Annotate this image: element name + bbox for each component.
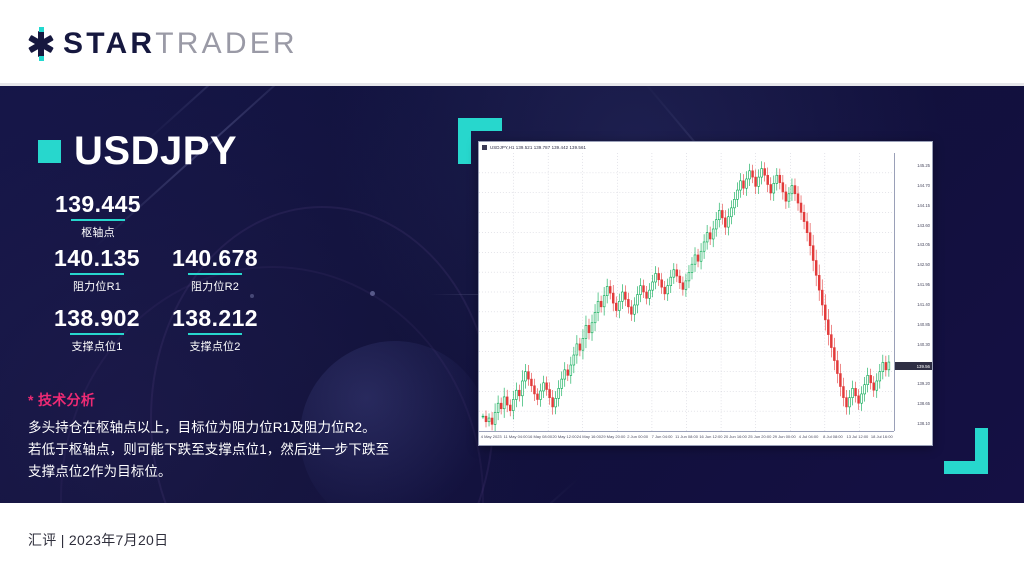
asterisk-star-logo-icon xyxy=(24,27,58,61)
time-axis-tick: 29 May 20:00 xyxy=(601,434,625,439)
price-axis-tick: 141.95 xyxy=(917,282,930,287)
time-axis-tick: 11 May 04:00 xyxy=(504,434,528,439)
price-axis-tick: 145.25 xyxy=(917,163,930,168)
time-axis-tick: 4 May 2023 xyxy=(481,434,502,439)
page-title: USDJPY xyxy=(74,131,237,171)
level-label-s1: 支撑点位1 xyxy=(38,338,156,354)
price-axis-tick: 138.65 xyxy=(917,401,930,406)
corner-bracket-bottom-right xyxy=(944,428,988,474)
time-axis-tick: 16 Jun 12:00 xyxy=(699,434,722,439)
price-axis-tick: 139.20 xyxy=(917,381,930,386)
chart-title-text: USDJPY,H1 139.521 139.787 139.442 139.56… xyxy=(490,145,586,150)
chart-price-axis: 145.25144.70144.15143.60143.05142.50141.… xyxy=(894,153,932,431)
levels-grid: 140.135 阻力位R1 140.678 阻力位R2 138.902 支撑点位… xyxy=(38,246,274,366)
analysis-line-1: 多头持仓在枢轴点以上，目标位为阻力位R1及阻力位R2。 xyxy=(28,417,408,439)
pivot-value: 139.445 xyxy=(52,192,144,216)
level-value-s2: 138.212 xyxy=(156,306,274,330)
time-axis-tick: 18 Jul 16:00 xyxy=(871,434,893,439)
instrument-title-row: USDJPY xyxy=(38,131,237,171)
levels-row-resistance: 140.135 阻力位R1 140.678 阻力位R2 xyxy=(38,246,274,306)
chart-plot-area[interactable] xyxy=(479,153,894,431)
price-axis-tick: 144.15 xyxy=(917,203,930,208)
level-underline-r1 xyxy=(70,273,124,275)
price-axis-tick: 143.60 xyxy=(917,223,930,228)
price-axis-tick: 141.40 xyxy=(917,302,930,307)
level-value-r2: 140.678 xyxy=(156,246,274,270)
price-chart[interactable]: USDJPY,H1 139.521 139.787 139.442 139.56… xyxy=(478,141,933,446)
chart-title-bar: USDJPY,H1 139.521 139.787 139.442 139.56… xyxy=(479,142,932,153)
price-axis-tick: 143.05 xyxy=(917,242,930,247)
time-axis-tick: 7 Jun 04:00 xyxy=(652,434,673,439)
brand-name-star: STAR xyxy=(63,27,155,60)
chart-window-icon xyxy=(482,145,487,150)
price-axis-tick: 142.50 xyxy=(917,262,930,267)
chart-time-axis: 4 May 202311 May 04:0016 May 08:0020 May… xyxy=(479,431,894,445)
level-label-r1: 阻力位R1 xyxy=(38,278,156,294)
time-axis-tick: 4 Jul 04:00 xyxy=(799,434,819,439)
title-bullet-square xyxy=(38,140,61,163)
footer-caption: 汇评 | 2023年7月20日 xyxy=(28,530,168,550)
level-cell-r1: 140.135 阻力位R1 xyxy=(38,246,156,294)
candlestick-series xyxy=(479,153,894,431)
analysis-text: 多头持仓在枢轴点以上，目标位为阻力位R1及阻力位R2。 若低于枢轴点，则可能下跌… xyxy=(28,417,408,483)
level-label-s2: 支撑点位2 xyxy=(156,338,274,354)
price-axis-tick: 140.85 xyxy=(917,322,930,327)
time-axis-tick: 29 Jun 00:00 xyxy=(773,434,796,439)
time-axis-tick: 24 May 16:00 xyxy=(577,434,601,439)
level-underline-r2 xyxy=(188,273,242,275)
time-axis-tick: 20 Jun 16:00 xyxy=(724,434,747,439)
level-value-r1: 140.135 xyxy=(38,246,156,270)
level-cell-r2: 140.678 阻力位R2 xyxy=(156,246,274,294)
price-axis-tick: 144.70 xyxy=(917,183,930,188)
time-axis-tick: 11 Jun 08:00 xyxy=(675,434,698,439)
brand-logo: STARTRADER xyxy=(24,27,298,61)
analysis-block: * 技术分析 多头持仓在枢轴点以上，目标位为阻力位R1及阻力位R2。 若低于枢轴… xyxy=(28,390,408,483)
price-axis-tick: 138.10 xyxy=(917,421,930,426)
level-underline-s2 xyxy=(188,333,242,335)
level-value-s1: 138.902 xyxy=(38,306,156,330)
time-axis-tick: 20 May 12:00 xyxy=(552,434,576,439)
analysis-line-3: 支撑点位2作为目标位。 xyxy=(28,461,408,483)
level-underline-s1 xyxy=(70,333,124,335)
pivot-label: 枢轴点 xyxy=(52,224,144,240)
slide-root: STARTRADER USDJPY 139.445 枢轴点 140.135 阻力… xyxy=(0,0,1024,576)
level-cell-s2: 138.212 支撑点位2 xyxy=(156,306,274,354)
time-axis-tick: 16 May 08:00 xyxy=(528,434,552,439)
page-footer: 汇评 | 2023年7月20日 xyxy=(0,503,1024,576)
pivot-underline xyxy=(71,219,125,221)
logo-accent-dot-bottom xyxy=(39,56,44,61)
pivot-block: 139.445 枢轴点 xyxy=(52,192,144,240)
analysis-heading: * 技术分析 xyxy=(28,390,408,410)
time-axis-tick: 13 Jul 12:00 xyxy=(846,434,868,439)
brand-name-trader: TRADER xyxy=(155,27,298,60)
time-axis-tick: 25 Jun 20:00 xyxy=(748,434,771,439)
level-cell-s1: 138.902 支撑点位1 xyxy=(38,306,156,354)
analysis-line-2: 若低于枢轴点，则可能下跌至支撑点位1，然后进一步下跌至 xyxy=(28,439,408,461)
current-price-tag: 139.56 xyxy=(895,362,932,370)
levels-row-support: 138.902 支撑点位1 138.212 支撑点位2 xyxy=(38,306,274,366)
page-header: STARTRADER xyxy=(0,0,1024,86)
price-axis-tick: 140.30 xyxy=(917,342,930,347)
level-label-r2: 阻力位R2 xyxy=(156,278,274,294)
logo-accent-dot-top xyxy=(39,27,44,32)
brand-wordmark: STARTRADER xyxy=(63,29,298,59)
time-axis-tick: 8 Jul 08:00 xyxy=(823,434,843,439)
time-axis-tick: 2 Jun 00:00 xyxy=(627,434,648,439)
star-glyph xyxy=(24,30,58,58)
